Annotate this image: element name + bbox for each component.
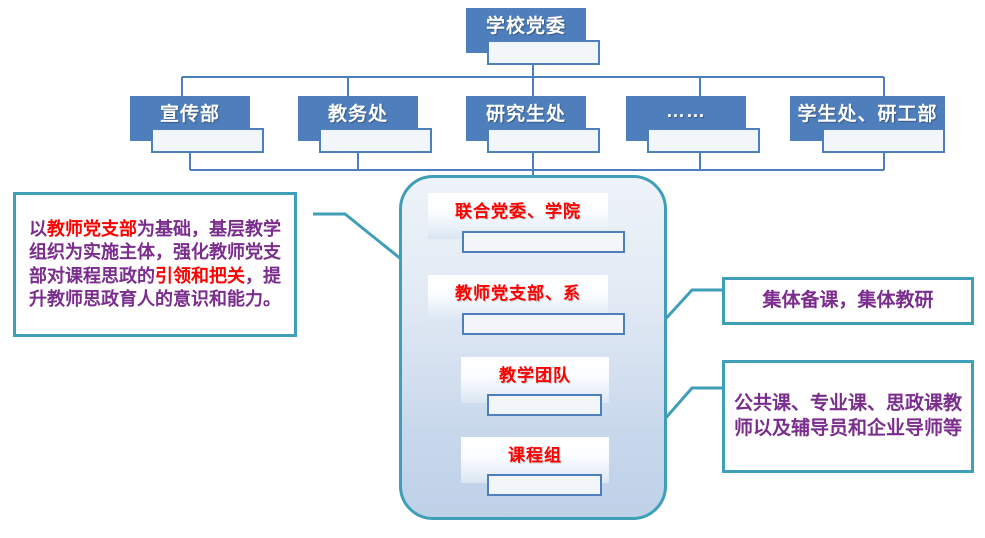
pool-node-0-bar [462,231,625,253]
callout-right-bottom-text: 公共课、专业课、思政课教师以及辅导员和企业导师等 [725,390,971,443]
callout-left: 以教师党支部为基础，基层教学组织为实施主体，强化教师党支部对课程思政的引领和把关… [13,192,297,337]
callout-left-text: 以教师党支部为基础，基层教学组织为实施主体，强化教师党支部对课程思政的引领和把关… [16,216,294,314]
callout-left-seg-3: 引领和把关 [155,266,245,286]
org-node-root-bar [487,40,600,65]
callout-left-seg-0: 以 [29,219,47,239]
pool-node-2-bar [487,394,602,416]
callout-right-bottom: 公共课、专业课、思政课教师以及辅导员和企业导师等 [722,360,974,473]
org-node-dept-3-bar [647,128,760,153]
org-node-dept-2-bar [487,128,600,153]
callout-left-seg-1: 教师党支部 [47,219,137,239]
callout-right-top: 集体备课，集体教研 [722,277,974,325]
diagram-canvas: 学校党委 宣传部 教务处 研究生处 …… 学生处、研工部 联合党委、学院 教师党… [0,0,985,538]
callout-right-top-text: 集体备课，集体教研 [756,287,939,316]
org-node-dept-1-bar [319,128,432,153]
pool-node-1-bar [462,313,625,335]
org-node-dept-0-bar [151,128,264,153]
pool-node-3-bar [487,474,602,496]
org-node-dept-4-bar [822,128,945,153]
pool-node-0-label: 联合党委、学院 [455,197,581,236]
pool-node-1-label: 教师党支部、系 [455,279,581,318]
